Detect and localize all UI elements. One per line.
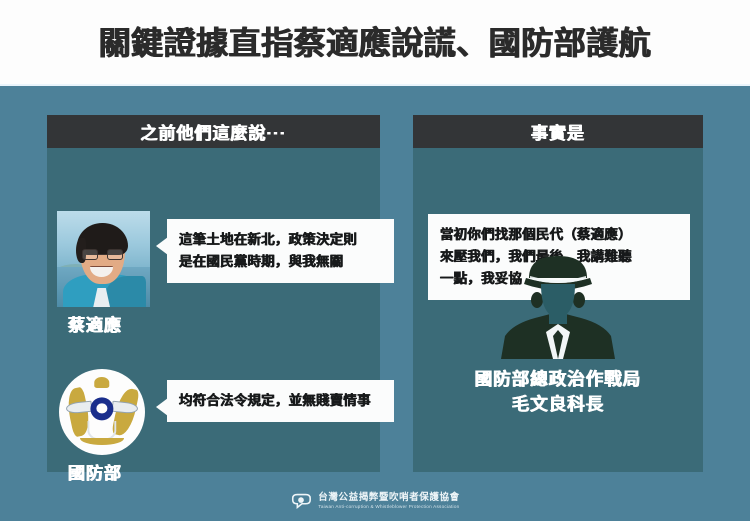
officer-caption: 國防部總政治作戰局 毛文良科長 <box>413 367 703 417</box>
panel-previous-claims: 之前他們這麼說··· 這筆土地在新北，政策決定則 是在國民黨時期，與我無關 <box>47 115 380 472</box>
glasses-icon <box>82 249 123 260</box>
mnd-emblem-icon <box>59 369 145 455</box>
glasses-bridge <box>98 254 106 255</box>
panel-left-header-label: 之前他們這麼說··· <box>141 119 287 144</box>
footer-org-name-zh: 台灣公益揭弊暨吹哨者保護協會 <box>318 493 459 503</box>
claim-bubble-tsai: 這筆土地在新北，政策決定則 是在國民黨時期，與我無關 <box>167 219 394 283</box>
speaker-label-tsai: 蔡適應 <box>68 311 122 336</box>
glasses-lens-right <box>107 249 123 260</box>
panel-right-header: 事實是 <box>413 115 703 148</box>
claim-bubble-tsai-text: 這筆土地在新北，政策決定則 是在國民黨時期，與我無關 <box>179 229 382 273</box>
page-title: 關鍵證據直指蔡適應說謊、國防部護航 <box>99 27 652 59</box>
claim-bubble-mnd-text: 均符合法令規定，並無賤賣情事 <box>179 390 382 412</box>
emblem-base <box>80 438 125 445</box>
whistle-logo-icon <box>290 490 312 512</box>
footer-branding: 台灣公益揭弊暨吹哨者保護協會 Taiwan Anti-corruption & … <box>0 490 750 512</box>
infographic-body: 之前他們這麼說··· 這筆土地在新北，政策決定則 是在國民黨時期，與我無關 <box>0 86 750 521</box>
portrait-photo <box>57 211 150 307</box>
speaker-label-mnd: 國防部 <box>68 459 122 484</box>
military-officer-icon <box>483 244 633 359</box>
panel-left-header: 之前他們這麼說··· <box>47 115 380 148</box>
claim-bubble-mnd: 均符合法令規定，並無賤賣情事 <box>167 380 394 422</box>
glasses-lens-left <box>82 249 98 260</box>
emblem-crest-top <box>94 377 109 388</box>
panel-the-facts: 事實是 當初你們找那個民代（蔡適應） 來壓我們，我們最後，我講難聽 一點，我妥協 <box>413 115 703 472</box>
page-title-bar: 關鍵證據直指蔡適應說謊、國防部護航 <box>0 0 750 86</box>
panel-right-header-label: 事實是 <box>531 119 585 144</box>
footer-text-group: 台灣公益揭弊暨吹哨者保護協會 Taiwan Anti-corruption & … <box>318 493 459 510</box>
emblem-sun <box>90 397 113 420</box>
footer-org-name-en: Taiwan Anti-corruption & Whistleblower P… <box>318 505 459 510</box>
